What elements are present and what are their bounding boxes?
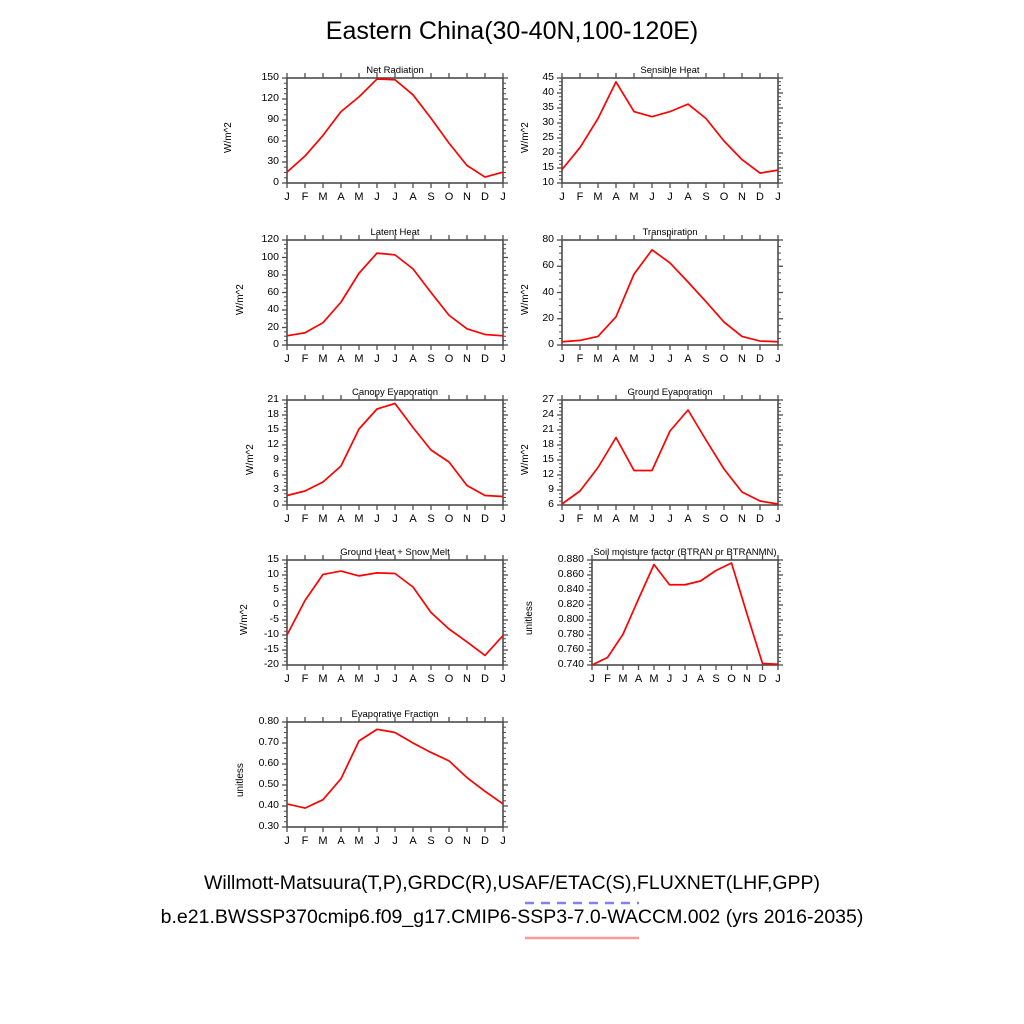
x-tick-label: D <box>475 513 495 525</box>
x-tick-label: O <box>439 673 459 685</box>
x-tick-label: F <box>570 191 590 203</box>
x-tick-label: M <box>588 191 608 203</box>
x-tick-label: O <box>714 513 734 525</box>
x-tick-label: J <box>277 191 297 203</box>
x-tick-label: J <box>367 673 387 685</box>
figure-canvas: Eastern China(30-40N,100-120E) Net Radia… <box>0 0 1024 1024</box>
panel-ground-evaporation: Ground EvaporationW/m^269121518212427JFM… <box>518 387 780 526</box>
x-tick-label: J <box>367 353 387 365</box>
plot-area-ground-heat-snow-melt <box>237 547 519 686</box>
x-tick-label: M <box>313 835 333 847</box>
x-tick-label: J <box>552 513 572 525</box>
x-tick-label: M <box>313 353 333 365</box>
x-tick-label: N <box>732 191 752 203</box>
x-tick-label: A <box>331 513 351 525</box>
x-tick-label: J <box>660 513 680 525</box>
x-tick-label: A <box>403 673 423 685</box>
plot-area-latent-heat <box>233 227 519 366</box>
x-tick-label: M <box>349 353 369 365</box>
x-tick-label: N <box>732 513 752 525</box>
plot-area-ground-evaporation <box>518 387 794 526</box>
panel-ground-heat-snow-melt: Ground Heat + Snow MeltW/m^2-20-15-10-50… <box>237 547 505 686</box>
x-tick-label: S <box>421 191 441 203</box>
x-tick-label: A <box>403 191 423 203</box>
x-tick-label: J <box>493 353 513 365</box>
plot-area-canopy-evaporation <box>243 387 519 526</box>
x-tick-label: J <box>768 353 788 365</box>
x-tick-label: J <box>385 513 405 525</box>
x-tick-label: M <box>313 191 333 203</box>
x-tick-label: D <box>475 673 495 685</box>
x-tick-label: J <box>552 191 572 203</box>
x-tick-label: S <box>421 353 441 365</box>
x-tick-label: F <box>295 673 315 685</box>
data-series-latent-heat <box>287 253 503 336</box>
x-tick-label: M <box>624 191 644 203</box>
plot-area-transpiration <box>518 227 794 366</box>
x-tick-label: N <box>457 191 477 203</box>
figure-title: Eastern China(30-40N,100-120E) <box>0 17 1024 46</box>
x-tick-label: D <box>475 191 495 203</box>
plot-area-soil-moisture-factor <box>522 547 794 686</box>
x-tick-label: N <box>457 513 477 525</box>
x-tick-label: S <box>696 191 716 203</box>
x-tick-label: J <box>768 513 788 525</box>
x-tick-label: F <box>570 353 590 365</box>
x-tick-label: N <box>457 673 477 685</box>
x-tick-label: A <box>331 835 351 847</box>
x-tick-label: O <box>439 191 459 203</box>
x-tick-label: M <box>349 673 369 685</box>
x-tick-label: D <box>750 191 770 203</box>
x-tick-label: M <box>349 191 369 203</box>
x-tick-label: S <box>421 673 441 685</box>
caption-line-observations: Willmott-Matsuura(T,P),GRDC(R),USAF/ETAC… <box>0 872 1024 895</box>
x-tick-label: F <box>295 835 315 847</box>
x-tick-label: J <box>367 513 387 525</box>
x-tick-label: J <box>493 835 513 847</box>
x-tick-label: M <box>313 513 333 525</box>
x-tick-label: J <box>277 353 297 365</box>
x-tick-label: J <box>367 835 387 847</box>
data-series-sensible-heat <box>562 82 778 173</box>
x-tick-label: J <box>768 673 788 685</box>
x-tick-label: J <box>385 353 405 365</box>
x-tick-label: F <box>295 513 315 525</box>
x-tick-label: A <box>606 191 626 203</box>
panel-evaporative-fraction: Evaporative Fractionunitless0.300.400.50… <box>233 709 505 848</box>
x-tick-label: M <box>349 835 369 847</box>
x-tick-label: A <box>678 513 698 525</box>
data-series-evaporative-fraction <box>287 729 503 808</box>
x-tick-label: M <box>588 353 608 365</box>
plot-area-sensible-heat <box>518 65 794 204</box>
x-tick-label: M <box>624 513 644 525</box>
x-tick-label: S <box>421 835 441 847</box>
x-tick-label: A <box>331 673 351 685</box>
x-tick-label: J <box>385 835 405 847</box>
x-tick-label: F <box>295 353 315 365</box>
x-tick-label: O <box>439 353 459 365</box>
x-tick-label: A <box>606 513 626 525</box>
x-tick-label: A <box>403 353 423 365</box>
data-series-ground-evaporation <box>562 410 778 504</box>
panel-latent-heat: Latent HeatW/m^2020406080100120JFMAMJJAS… <box>233 227 505 366</box>
x-tick-label: J <box>493 513 513 525</box>
legend-dashed-line <box>525 901 639 905</box>
x-tick-label: D <box>750 353 770 365</box>
x-tick-label: O <box>714 191 734 203</box>
x-tick-label: J <box>277 673 297 685</box>
data-series-transpiration <box>562 250 778 342</box>
x-tick-label: D <box>475 835 495 847</box>
plot-area-net-radiation <box>221 65 519 204</box>
x-tick-label: O <box>439 835 459 847</box>
x-tick-label: F <box>295 191 315 203</box>
x-tick-label: J <box>552 353 572 365</box>
x-tick-label: M <box>588 513 608 525</box>
x-tick-label: J <box>385 191 405 203</box>
x-tick-label: J <box>642 513 662 525</box>
x-tick-label: A <box>606 353 626 365</box>
x-tick-label: S <box>696 513 716 525</box>
x-tick-label: M <box>624 353 644 365</box>
x-tick-label: J <box>277 513 297 525</box>
data-series-soil-moisture-factor <box>592 563 778 665</box>
x-tick-label: S <box>696 353 716 365</box>
x-tick-label: A <box>403 513 423 525</box>
x-tick-label: J <box>660 353 680 365</box>
x-tick-label: J <box>660 191 680 203</box>
plot-area-evaporative-fraction <box>233 709 519 848</box>
x-tick-label: A <box>331 353 351 365</box>
x-tick-label: S <box>421 513 441 525</box>
panel-net-radiation: Net RadiationW/m^20306090120150JFMAMJJAS… <box>221 65 505 204</box>
x-tick-label: A <box>403 835 423 847</box>
x-tick-label: J <box>385 673 405 685</box>
x-tick-label: N <box>457 835 477 847</box>
x-tick-label: A <box>331 191 351 203</box>
x-tick-label: O <box>714 353 734 365</box>
x-tick-label: J <box>493 673 513 685</box>
panel-sensible-heat: Sensible HeatW/m^21015202530354045JFMAMJ… <box>518 65 780 204</box>
x-tick-label: A <box>678 191 698 203</box>
x-tick-label: J <box>367 191 387 203</box>
data-series-ground-heat-snow-melt <box>287 571 503 655</box>
data-series-net-radiation <box>287 79 503 177</box>
x-tick-label: J <box>642 191 662 203</box>
x-tick-label: M <box>313 673 333 685</box>
legend-solid-line <box>525 936 639 940</box>
x-tick-label: F <box>570 513 590 525</box>
x-tick-label: J <box>768 191 788 203</box>
panel-soil-moisture-factor: Soil moisture factor (BTRAN or BTRANMN)u… <box>522 547 780 686</box>
x-tick-label: D <box>475 353 495 365</box>
x-tick-label: J <box>277 835 297 847</box>
x-tick-label: A <box>678 353 698 365</box>
caption-line-model: b.e21.BWSSP370cmip6.f09_g17.CMIP6-SSP3-7… <box>0 906 1024 929</box>
x-tick-label: M <box>349 513 369 525</box>
x-tick-label: O <box>439 513 459 525</box>
panel-transpiration: TranspirationW/m^2020406080JFMAMJJASONDJ <box>518 227 780 366</box>
x-tick-label: D <box>750 513 770 525</box>
x-tick-label: N <box>457 353 477 365</box>
x-tick-label: J <box>493 191 513 203</box>
panel-canopy-evaporation: Canopy EvaporationW/m^2036912151821JFMAM… <box>243 387 505 526</box>
x-tick-label: N <box>732 353 752 365</box>
x-tick-label: J <box>642 353 662 365</box>
data-series-canopy-evaporation <box>287 404 503 497</box>
